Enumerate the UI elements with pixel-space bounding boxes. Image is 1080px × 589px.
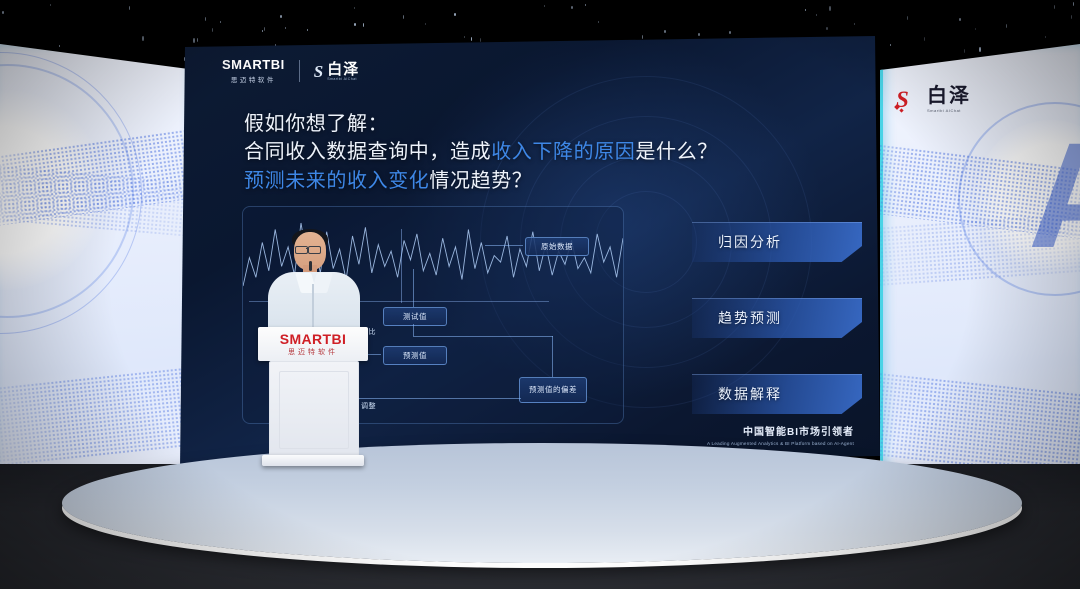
button-data-interpretation-label: 数据解释	[692, 384, 782, 404]
node-predicted-value: 预测值	[383, 346, 447, 365]
node-raw-data: 原始数据	[525, 237, 589, 256]
slide-tagline: 中国智能BI市场引领者 A Leading Augmented Analytic…	[707, 423, 854, 446]
speaker-podium: SMARTBI 思迈特软件	[258, 327, 368, 467]
tagline-en: A Leading Augmented Analytics & BI Platf…	[707, 441, 854, 446]
capability-button-list: 归因分析 趋势预测 数据解释	[692, 222, 862, 450]
speaker-presenter	[268, 232, 360, 342]
slide-headline: 假如你想了解： 合同收入数据查询中，造成收入下降的原因是什么？ 预测未来的收入变…	[244, 110, 718, 195]
headline-line-2: 合同收入数据查询中，造成收入下降的原因是什么？	[244, 138, 718, 166]
screen-brand-logos: SMARTBI 思迈特软件 S 白泽 Smartbi AIChat	[222, 58, 359, 84]
edge-raw-to-chart	[485, 245, 523, 246]
button-trend-forecast-label: 趋势预测	[692, 308, 782, 328]
glasses-right-lens-icon	[308, 246, 321, 254]
edge-to-deviation	[552, 336, 553, 377]
button-data-interpretation[interactable]: 数据解释	[692, 374, 862, 414]
wall-logo-sub: Smartbi AIChat	[927, 108, 971, 113]
smartbi-wordmark: SMARTBI	[222, 58, 285, 71]
podium-wordmark: SMARTBI	[280, 332, 347, 346]
smartbi-logo: SMARTBI 思迈特软件	[222, 58, 285, 84]
edge-chart-to-test	[413, 269, 414, 307]
edge-test-down	[413, 324, 414, 336]
wall-dot-wave-3	[0, 359, 196, 470]
headline-line-2-a: 合同收入数据查询中，造成	[244, 141, 491, 163]
baize-s-icon: S	[314, 63, 323, 80]
node-prediction-deviation: 预测值的偏差	[519, 377, 587, 403]
presentation-stage: A S 白泽 Smartbi AIChat SMAR	[0, 0, 1080, 589]
baize-s-mark-icon: S	[896, 89, 922, 111]
podium-sub: 思迈特软件	[288, 349, 338, 356]
podium-panel-inset	[279, 371, 349, 449]
baize-sub: Smartbi AIChat	[327, 77, 359, 81]
headline-line-3-b: 情况趋势？	[429, 170, 532, 192]
stage-platform	[62, 443, 1022, 563]
headline-line-1: 假如你想了解：	[244, 110, 718, 138]
wall-logo-name: 白泽	[927, 86, 971, 106]
podium-base	[262, 455, 364, 466]
node-test-value: 测试值	[383, 307, 447, 326]
chart-divider-line	[401, 229, 402, 303]
headline-line-3-highlight: 预测未来的收入变化	[244, 170, 429, 192]
edge-compare-right	[413, 336, 553, 337]
button-attribution-analysis-label: 归因分析	[692, 232, 782, 252]
button-attribution-analysis[interactable]: 归因分析	[692, 222, 862, 262]
podium-branding-panel: SMARTBI 思迈特软件	[258, 327, 368, 361]
wall-baize-logo: S 白泽 Smartbi AIChat	[896, 86, 971, 113]
headline-line-2-highlight: 收入下降的原因	[491, 141, 635, 163]
logo-divider	[299, 60, 300, 82]
baize-name: 白泽	[327, 62, 359, 77]
baize-logo: S 白泽 Smartbi AIChat	[314, 62, 359, 81]
left-led-wall	[0, 44, 196, 504]
button-trend-forecast[interactable]: 趋势预测	[692, 298, 862, 338]
glasses-bridge	[306, 248, 309, 249]
smartbi-sub: 思迈特软件	[231, 74, 276, 84]
right-led-wall: A S 白泽 Smartbi AIChat	[880, 44, 1080, 504]
tagline-cn: 中国智能BI市场引领者	[707, 423, 854, 438]
headline-line-2-c: 是什么？	[635, 141, 717, 163]
headline-line-3: 预测未来的收入变化情况趋势？	[244, 167, 718, 195]
lapel-microphone-icon	[309, 261, 312, 271]
podium-body	[269, 361, 359, 459]
